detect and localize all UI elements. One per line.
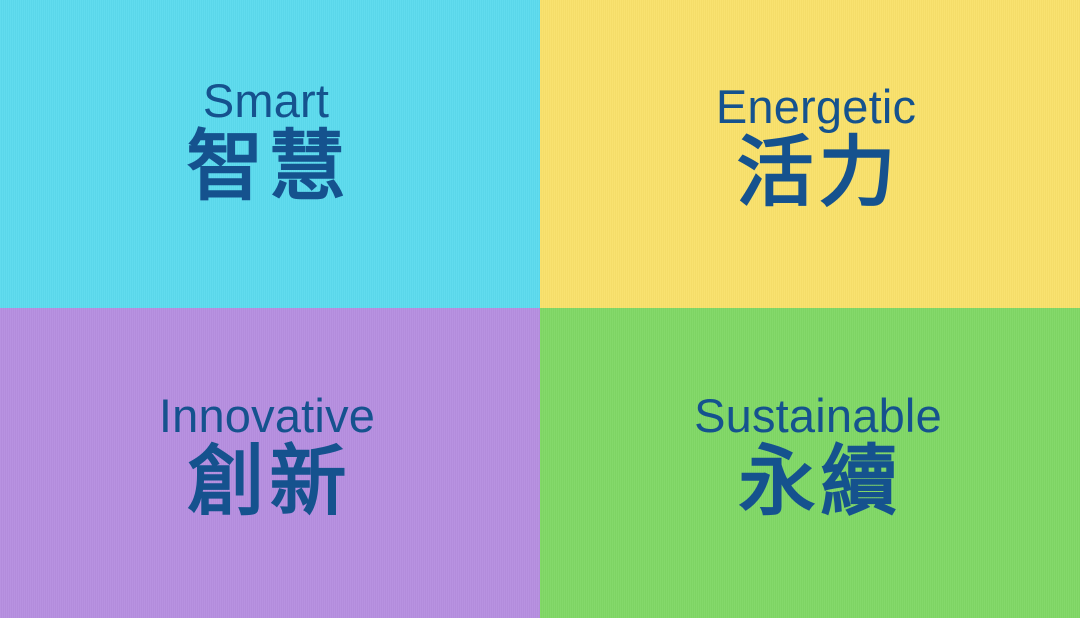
quadrant-innovative-text-block: Innovative 創新 [159, 392, 375, 521]
quadrant-board: Smart 智慧 Energetic 活力 Innovative 創新 Sust… [0, 0, 1080, 618]
quadrant-smart-label-en: Smart [203, 77, 329, 126]
quadrant-smart-text-block: Smart 智慧 [182, 77, 351, 206]
quadrant-sustainable[interactable]: Sustainable 永續 [540, 308, 1080, 618]
quadrant-energetic-text-block: Energetic 活力 [716, 83, 916, 212]
quadrant-sustainable-label-cjk: 永續 [733, 443, 902, 522]
quadrant-smart[interactable]: Smart 智慧 [0, 0, 540, 308]
quadrant-smart-label-cjk: 智慧 [182, 128, 351, 207]
quadrant-energetic[interactable]: Energetic 活力 [540, 0, 1080, 308]
quadrant-innovative[interactable]: Innovative 創新 [0, 308, 540, 618]
quadrant-innovative-label-en: Innovative [159, 392, 375, 441]
quadrant-energetic-label-cjk: 活力 [731, 134, 900, 213]
quadrant-sustainable-label-en: Sustainable [694, 392, 942, 441]
quadrant-sustainable-text-block: Sustainable 永續 [694, 392, 942, 521]
quadrant-innovative-label-cjk: 創新 [182, 443, 351, 522]
quadrant-energetic-label-en: Energetic [716, 83, 916, 132]
